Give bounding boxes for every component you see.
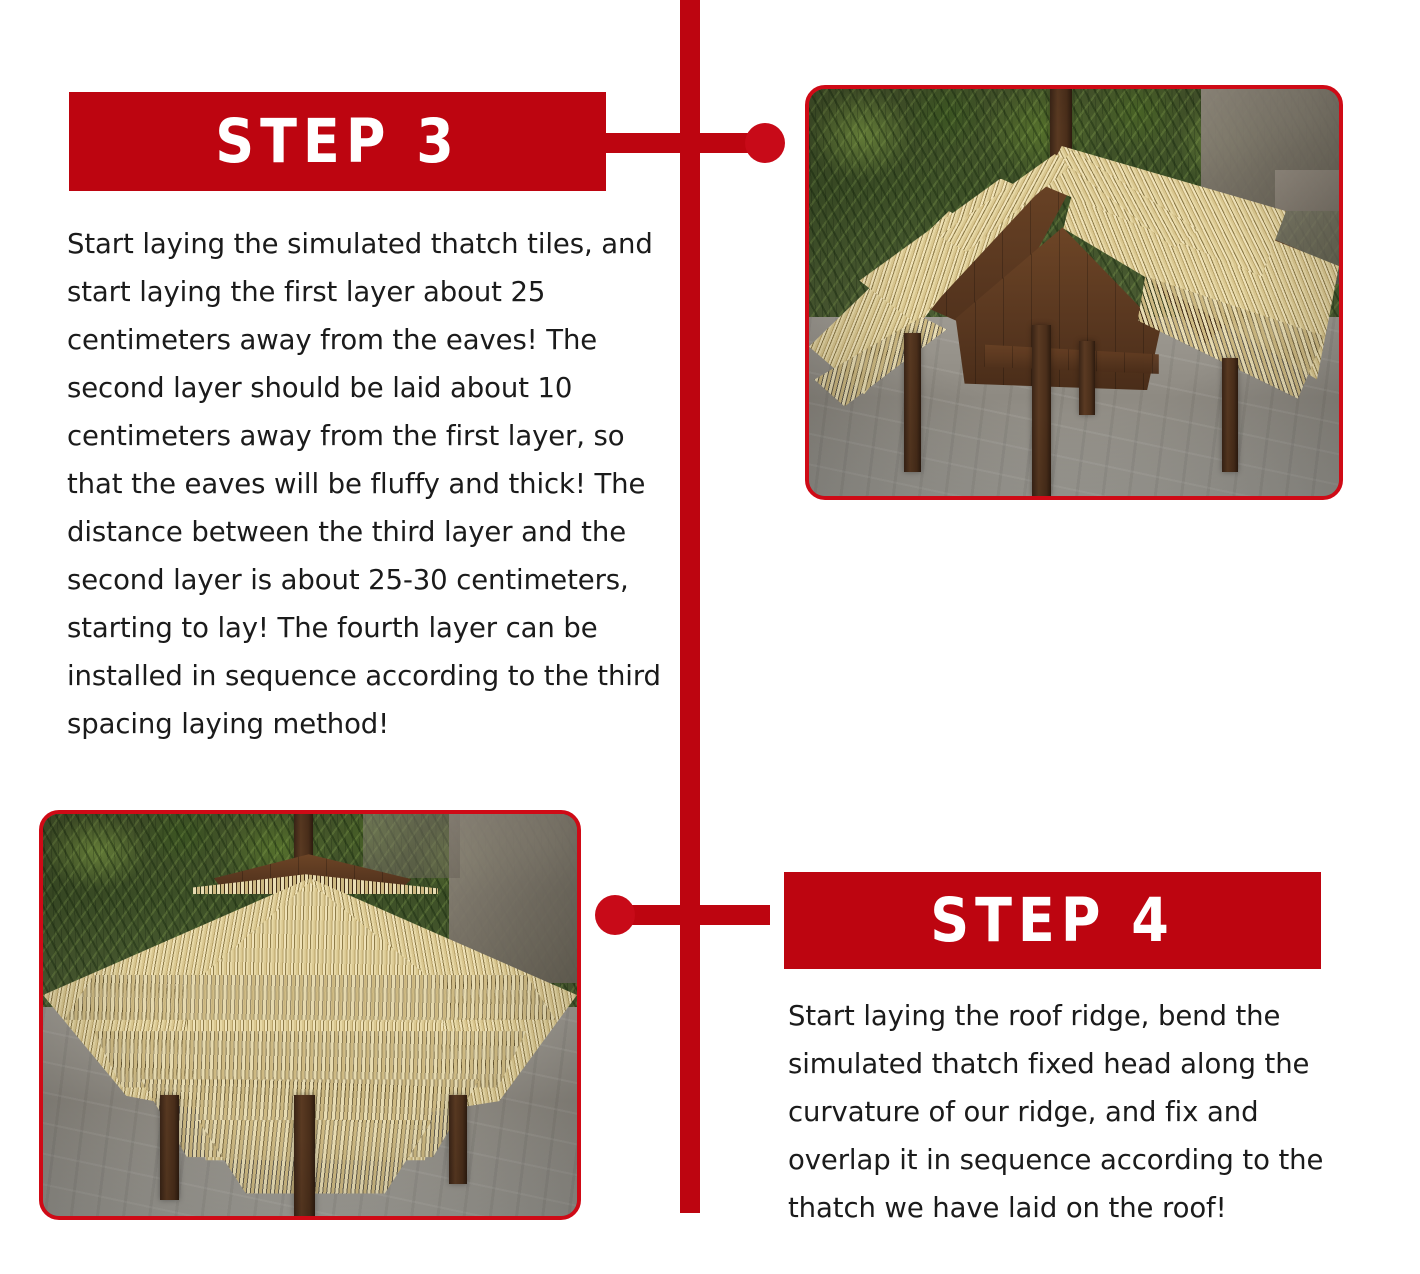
timeline-connector-step3 (600, 133, 766, 153)
gazebo-partial-thatch-scene (809, 89, 1339, 496)
step-4-banner-label: STEP 4 (930, 890, 1175, 950)
timeline-spine (680, 0, 700, 1213)
step-4-photo (39, 810, 581, 1220)
step-4-node (595, 895, 635, 935)
timeline-connector-step4 (612, 905, 770, 925)
photo-vignette-2 (43, 814, 577, 1216)
step-3-banner: STEP 3 (69, 92, 606, 191)
infographic-page: STEP 3 Start laying the simulated thatch… (0, 0, 1420, 1274)
step-3-node (745, 123, 785, 163)
step-3-description: Start laying the simulated thatch tiles,… (67, 220, 677, 748)
step-4-description: Start laying the roof ridge, bend the si… (788, 992, 1358, 1232)
step-3-photo (805, 85, 1343, 500)
photo-vignette (809, 89, 1339, 496)
step-3-banner-label: STEP 3 (215, 111, 460, 171)
step-4-banner: STEP 4 (784, 872, 1321, 969)
gazebo-full-thatch-scene (43, 814, 577, 1216)
